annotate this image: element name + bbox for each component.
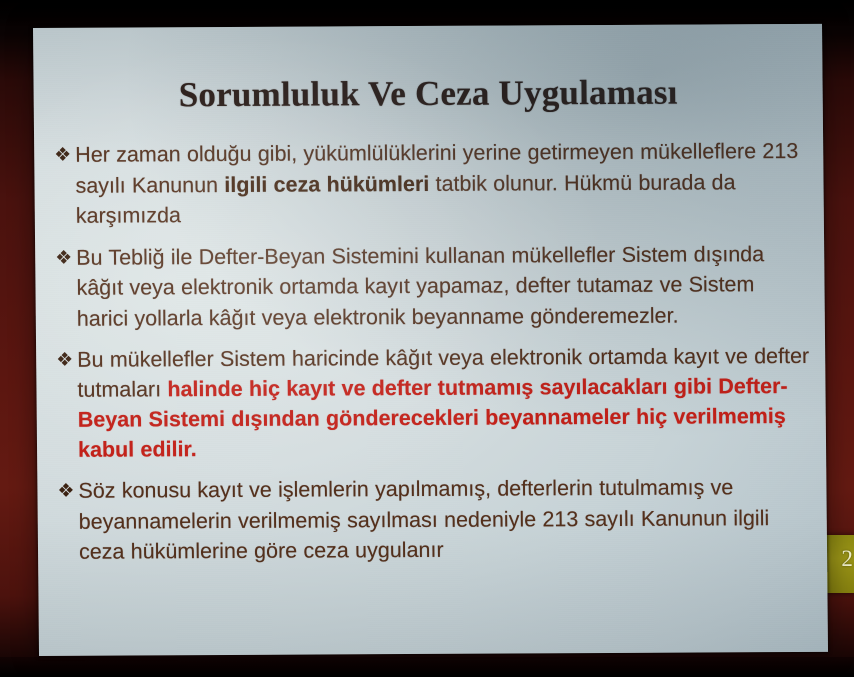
projection-screen: Sorumluluk Ve Ceza Uygulaması ❖ Her zama… (33, 24, 828, 656)
bullet-4-seg-1: Söz konusu kayıt ve işlemlerin yapılmamı… (78, 475, 769, 563)
bullet-3-seg-2-emphasis: halinde hiç kayıt ve defter tutmamış say… (78, 374, 788, 462)
list-item: ❖ Söz konusu kayıt ve işlemlerin yapılma… (57, 472, 813, 567)
bullet-2-text: Bu Tebliğ ile Defter-Beyan Sistemini kul… (76, 238, 811, 333)
diamond-bullet-icon: ❖ (56, 346, 77, 377)
projected-slide-photo: ( 2 Sorumluluk Ve Ceza Uygulaması ❖ Her … (0, 0, 854, 677)
list-item: ❖ Her zaman olduğu gibi, yükümlülüklerin… (54, 136, 810, 231)
wall-top-shadow (0, 0, 854, 26)
bullet-3-text: Bu mükellefler Sistem haricinde kâğıt ve… (77, 341, 812, 465)
diamond-bullet-icon: ❖ (55, 243, 76, 274)
bullet-1-text: Her zaman olduğu gibi, yükümlülüklerini … (75, 136, 810, 231)
diamond-bullet-icon: ❖ (54, 141, 75, 172)
diamond-bullet-icon: ❖ (57, 477, 78, 508)
bullet-2-seg-1: Bu Tebliğ ile Defter-Beyan Sistemini kul… (76, 242, 764, 331)
list-item: ❖ Bu Tebliğ ile Defter-Beyan Sistemini k… (55, 238, 811, 333)
bullet-4-text: Söz konusu kayıt ve işlemlerin yapılmamı… (78, 472, 813, 567)
bullet-1-seg-2: ilgili ceza hükümleri (224, 171, 429, 196)
slide-content: Sorumluluk Ve Ceza Uygulaması ❖ Her zama… (33, 24, 828, 656)
list-item: ❖ Bu mükellefler Sistem haricinde kâğıt … (56, 341, 812, 465)
slide-bullet-list: ❖ Her zaman olduğu gibi, yükümlülüklerin… (54, 136, 813, 578)
wall-bottom-shadow (0, 657, 854, 677)
slide-title: Sorumluluk Ve Ceza Uygulaması (33, 72, 822, 116)
